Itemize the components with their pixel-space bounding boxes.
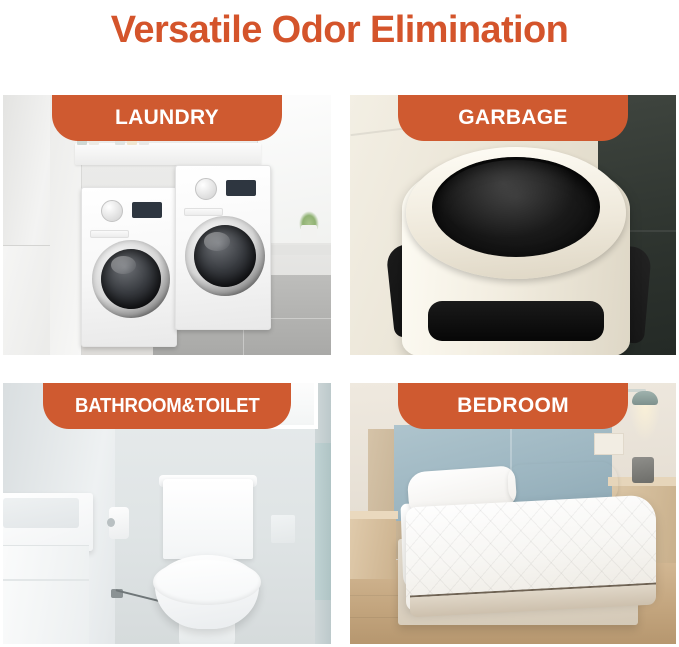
washing-machine-left (81, 187, 177, 347)
badge-garbage: GARBAGE (398, 95, 628, 141)
page-title: Versatile Odor Elimination (0, 4, 679, 56)
feature-panel-laundry[interactable]: LAUNDRY (3, 95, 331, 355)
feature-panel-garbage[interactable]: GARBAGE (350, 95, 676, 355)
badge-garbage-label: GARBAGE (448, 95, 577, 141)
feature-panel-grid: LAUNDRY GARBAGE (3, 95, 676, 644)
product-feature-graphic: Versatile Odor Elimination (0, 0, 679, 647)
badge-laundry: LAUNDRY (52, 95, 282, 141)
badge-bathroom: BATHROOM&TOILET (43, 383, 291, 429)
feature-panel-bedroom[interactable]: BEDROOM (350, 383, 676, 644)
badge-bedroom: BEDROOM (398, 383, 628, 429)
badge-laundry-label: LAUNDRY (105, 95, 229, 141)
washing-machine-right (175, 165, 271, 330)
badge-bathroom-label: BATHROOM&TOILET (65, 383, 268, 429)
feature-panel-bathroom[interactable]: BATHROOM&TOILET (3, 383, 331, 644)
badge-bedroom-label: BEDROOM (447, 383, 579, 429)
